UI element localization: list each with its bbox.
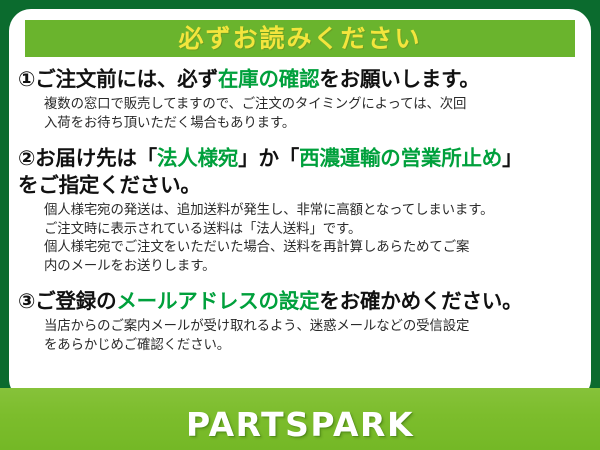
notice-item-3-head-highlight: メールアドレスの設定 xyxy=(116,289,319,313)
notice-item-2-body-line-2: 個人様宅宛でご注文をいただいた場合、送料を再計算しあらためてご案 xyxy=(44,239,582,258)
notice-item-2-body-line-1: ご注文時に表示されている送料は「法人送料」です。 xyxy=(44,221,582,240)
notice-item-1: ①ご注文前には、必ず在庫の確認をお願いします。 複数の窓口で販売してますので、ご… xyxy=(18,66,582,133)
frame-border-top xyxy=(0,0,600,9)
notice-item-2-head-part-4: 」 xyxy=(502,146,522,170)
frame-border-right xyxy=(591,0,600,400)
notice-title: 必ずお読みください xyxy=(25,20,575,57)
notice-item-3-marker: ③ xyxy=(18,289,35,313)
notice-item-1-heading: ①ご注文前には、必ず在庫の確認をお願いします。 xyxy=(18,66,582,93)
notice-item-3-heading: ③ご登録のメールアドレスの設定をお確かめください。 xyxy=(18,288,582,315)
notice-item-1-body-line-0: 複数の窓口で販売してますので、ご注文のタイミングによっては、次回 xyxy=(44,96,582,115)
notice-item-3-body: 当店からのご案内メールが受け取れるよう、迷惑メールなどの受信設定 をあらかじめご… xyxy=(44,318,582,355)
notice-item-2-body: 個人様宅宛の発送は、追加送料が発生し、非常に高額となってしまいます。 ご注文時に… xyxy=(44,202,582,276)
footer-band: PARTSPARK xyxy=(0,388,600,450)
notice-item-1-body: 複数の窓口で販売してますので、ご注文のタイミングによっては、次回 入荷をお待ち頂… xyxy=(44,96,582,133)
notice-item-3-head-part-2: をお確かめください。 xyxy=(319,289,522,313)
notice-item-2-heading: ②お届け先は「法人様宛」か「西濃運輸の営業所止め」をご指定ください。 xyxy=(18,145,582,199)
notice-content: ①ご注文前には、必ず在庫の確認をお願いします。 複数の窓口で販売してますので、ご… xyxy=(18,66,582,357)
notice-item-2-head-highlight-1: 法人様宛 xyxy=(157,146,238,170)
notice-item-2-body-line-3: 内のメールをお送りします。 xyxy=(44,258,582,277)
notice-item-1-body-line-1: 入荷をお待ち頂いただく場合もあります。 xyxy=(44,115,582,134)
notice-item-2-marker: ② xyxy=(18,146,35,170)
notice-item-2-head-part-2: 」か「 xyxy=(238,146,299,170)
notice-item-1-head-part-2: をお願いします。 xyxy=(319,67,479,91)
notice-item-3: ③ご登録のメールアドレスの設定をお確かめください。 当店からのご案内メールが受け… xyxy=(18,288,582,355)
notice-item-3-head-part-0: ご登録の xyxy=(35,289,116,313)
notice-item-2-head-part-0: お届け先は「 xyxy=(35,146,157,170)
notice-item-2-head-part-5: をご指定ください。 xyxy=(18,173,201,197)
notice-banner: 必ずお読みください ①ご注文前には、必ず在庫の確認をお願いします。 複数の窓口で… xyxy=(0,0,600,450)
notice-title-bar: 必ずお読みください xyxy=(25,20,575,57)
notice-item-3-body-line-0: 当店からのご案内メールが受け取れるよう、迷惑メールなどの受信設定 xyxy=(44,318,582,337)
notice-item-2-body-line-0: 個人様宅宛の発送は、追加送料が発生し、非常に高額となってしまいます。 xyxy=(44,202,582,221)
notice-item-3-body-line-1: をあらかじめご確認ください。 xyxy=(44,337,582,356)
notice-item-2-head-highlight-2: 西濃運輸の営業所止め xyxy=(299,146,502,170)
frame-border-left xyxy=(0,0,9,400)
brand-logo-text: PARTSPARK xyxy=(0,405,600,444)
notice-item-1-head-highlight: 在庫の確認 xyxy=(218,67,320,91)
notice-item-1-head-part-0: ご注文前には、必ず xyxy=(35,67,218,91)
notice-item-2: ②お届け先は「法人様宛」か「西濃運輸の営業所止め」をご指定ください。 個人様宅宛… xyxy=(18,145,582,276)
notice-item-1-marker: ① xyxy=(18,67,35,91)
